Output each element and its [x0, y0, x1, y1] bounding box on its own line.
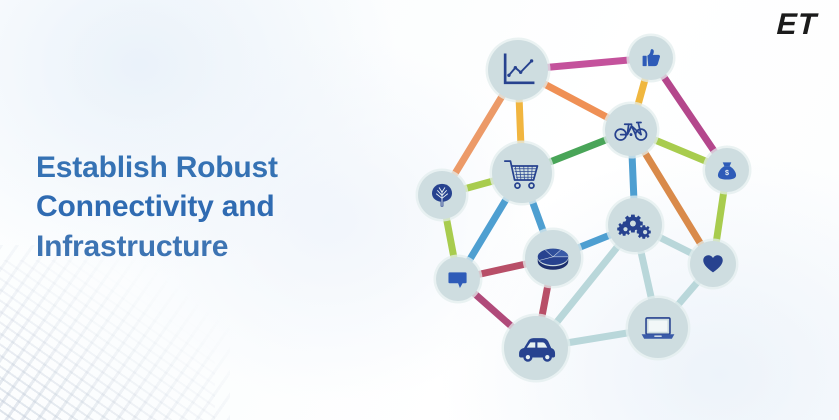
network-node-laptop: Laptop: [626, 296, 691, 361]
network-node-gears: Gears: [606, 196, 665, 255]
pie-chart-icon: [538, 249, 569, 270]
network-nodes: Line chartThumbs upBicycleMoney bagShopp…: [416, 34, 752, 383]
network-edges: [442, 58, 727, 348]
banner-hero: ET Establish Robust Connectivity and Inf…: [0, 0, 839, 420]
headline-line-3: Infrastructure: [36, 227, 396, 266]
connectivity-network-illustration: $: [400, 8, 820, 412]
network-node-pie-chart: Pie chart: [523, 228, 584, 289]
network-node-thumbs-up: Thumbs up: [627, 34, 676, 83]
page-title: Establish Robust Connectivity and Infras…: [36, 148, 396, 266]
headline-line-2: Connectivity and: [36, 187, 396, 226]
network-node-bicycle: Bicycle: [603, 102, 660, 159]
network-node-money-bag: Money bag: [703, 146, 752, 195]
diagonal-texture-pattern-dots: [0, 260, 215, 420]
node-circle: [492, 143, 552, 203]
network-node-line-chart: Line chart: [486, 38, 551, 103]
diagonal-texture-pattern: [0, 245, 230, 420]
node-circle: [605, 104, 657, 156]
network-node-tree: Tree: [416, 169, 469, 222]
network-node-car: Car: [502, 314, 571, 383]
headline-line-1: Establish Robust: [36, 148, 396, 187]
network-node-shopping-cart: Shopping cart: [490, 141, 555, 206]
network-node-heart: Heart: [688, 239, 739, 290]
laptop-icon: [642, 318, 675, 339]
network-node-speech-bubble: Speech bubble: [434, 255, 483, 304]
